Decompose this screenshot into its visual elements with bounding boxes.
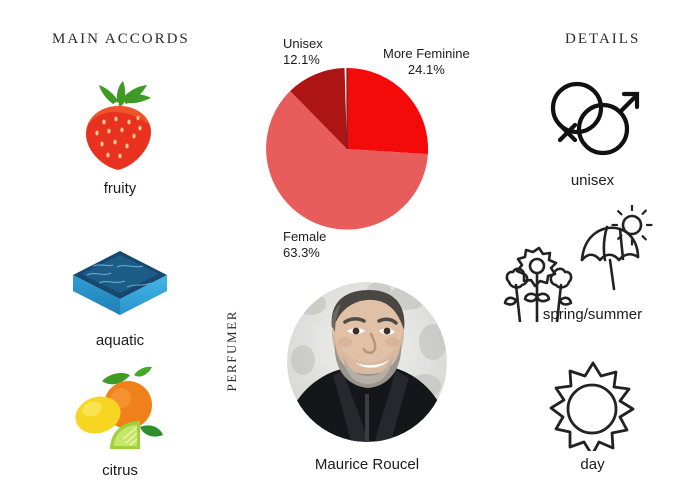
details-header: DETAILS — [565, 31, 640, 48]
pie-label-unisex-value: 12.1% — [283, 52, 320, 67]
accord-item-citrus[interactable]: citrus — [30, 362, 210, 479]
pie-label-unisex: Unisex 12.1% — [283, 36, 323, 69]
accord-label: citrus — [30, 462, 210, 479]
flowers-icon — [503, 238, 575, 327]
pie-label-female-name: Female — [283, 229, 326, 244]
pie-label-female: Female 63.3% — [283, 229, 326, 262]
detail-label: day — [500, 456, 685, 473]
perfumer-header: PERFUMER — [224, 310, 240, 391]
perfumer-name[interactable]: Maurice Roucel — [267, 456, 467, 473]
strawberry-icon — [30, 80, 210, 176]
accord-label: aquatic — [30, 332, 210, 349]
pie-label-unisex-name: Unisex — [283, 36, 323, 51]
detail-item-unisex[interactable]: unisex — [500, 72, 685, 189]
sun-icon — [500, 356, 685, 454]
detail-label: unisex — [500, 172, 685, 189]
accord-item-fruity[interactable]: fruity — [30, 80, 210, 197]
perfumer-portrait — [287, 282, 447, 442]
accord-label: fruity — [30, 180, 210, 197]
detail-item-day[interactable]: day — [500, 356, 685, 473]
accord-item-aquatic[interactable]: aquatic — [30, 232, 210, 349]
gender-pie-chart — [245, 55, 455, 235]
citrus-fruits-icon — [30, 362, 210, 458]
pie-slice-more-feminine — [347, 68, 428, 154]
main-accords-header: MAIN ACCORDS — [52, 31, 190, 48]
gender-symbols-icon — [500, 72, 685, 170]
pie-label-more-feminine-name: More Feminine — [383, 46, 470, 61]
pie-label-more-feminine-value: 24.1% — [408, 62, 445, 77]
water-block-icon — [30, 232, 210, 328]
fragrance-summary-page: MAIN ACCORDS — [0, 0, 700, 500]
pie-label-female-value: 63.3% — [283, 245, 320, 260]
pie-label-more-feminine: More Feminine 24.1% — [383, 46, 470, 79]
